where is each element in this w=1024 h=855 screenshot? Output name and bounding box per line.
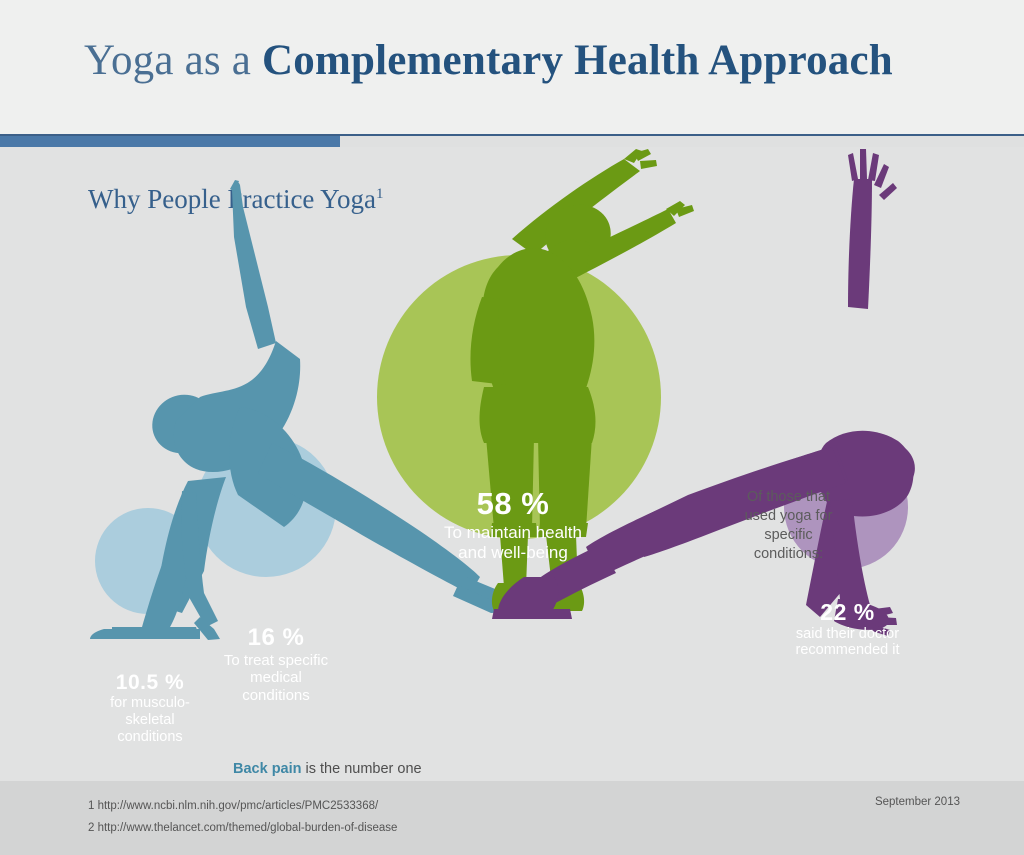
page-title-bold: Complementary Health Approach xyxy=(262,37,893,84)
callout-percent: 22 % xyxy=(770,599,925,626)
callout-label-line2: medical xyxy=(196,669,356,686)
callout-label-line3: conditions xyxy=(95,729,205,746)
callout-label-line2: and well-being xyxy=(413,543,613,563)
callout-label-line2: recommended it xyxy=(770,642,925,659)
callout-label-line2: skeletal xyxy=(95,712,205,729)
intro-note-line2: used yoga for xyxy=(745,508,833,524)
callout-label-line1: said their doctor xyxy=(770,626,925,643)
callout-label-line3: conditions xyxy=(196,687,356,704)
callout-musculoskeletal: 10.5 % for musculo- skeletal conditions xyxy=(95,671,205,746)
page-title-light: Yoga as a xyxy=(84,37,262,84)
callout-label-line1: To maintain health xyxy=(413,523,613,543)
callout-doctor-recommended: 22 % said their doctor recommended it xyxy=(770,599,925,659)
intro-note-line1: Of those that xyxy=(747,489,830,505)
footnotes: 1 http://www.ncbi.nlm.nih.gov/pmc/articl… xyxy=(88,796,397,840)
footnote-2: 2 http://www.thelancet.com/themed/global… xyxy=(88,818,397,840)
callout-percent: 58 % xyxy=(413,486,613,522)
callout-treat-conditions: 16 % To treat specific medical condition… xyxy=(196,624,356,704)
page-title: Yoga as a Complementary Health Approach xyxy=(84,36,893,85)
callout-percent: 16 % xyxy=(196,624,356,652)
footnote-1: 1 http://www.ncbi.nlm.nih.gov/pmc/articl… xyxy=(88,796,397,818)
header-accent-bar xyxy=(0,136,340,147)
intro-note-line3: specific xyxy=(764,527,812,543)
page-header: Yoga as a Complementary Health Approach xyxy=(0,0,1024,134)
back-pain-highlight: Back pain xyxy=(233,761,302,777)
callout-label-line1: for musculo- xyxy=(95,695,205,712)
infographic-body: Why People Practice Yoga1 xyxy=(0,147,1024,781)
publication-date: September 2013 xyxy=(875,796,960,808)
intro-note-line4: conditions: xyxy=(754,546,823,562)
conditions-intro-note: Of those that used yoga for specific con… xyxy=(726,488,851,563)
infographic-page: Yoga as a Complementary Health Approach … xyxy=(0,0,1024,855)
back-pain-note: Back pain is the number one reason peopl… xyxy=(233,759,438,781)
callout-percent: 10.5 % xyxy=(95,671,205,695)
page-footer: 1 http://www.ncbi.nlm.nih.gov/pmc/articl… xyxy=(0,781,1024,855)
callout-label-line1: To treat specific xyxy=(196,652,356,669)
callout-maintain-health: 58 % To maintain health and well-being xyxy=(413,486,613,562)
